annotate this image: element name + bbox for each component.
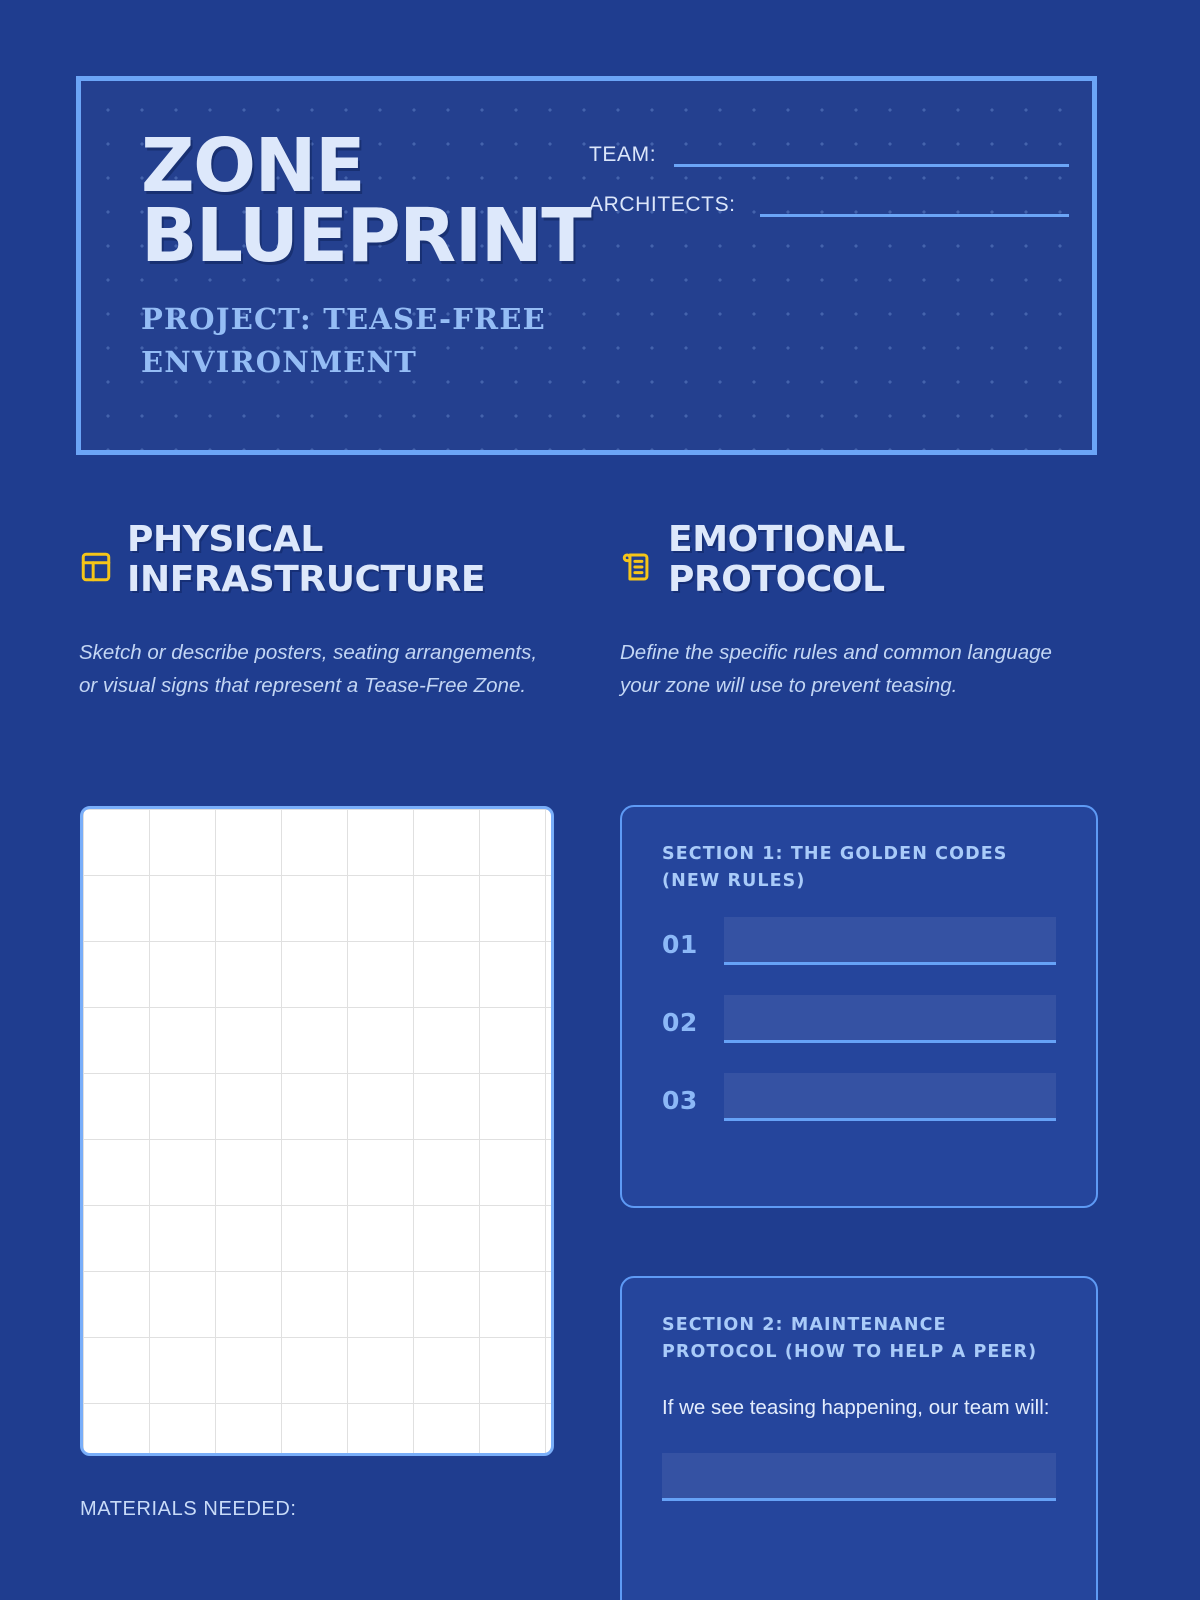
physical-title-line-2: INFRASTRUCTURE <box>127 559 485 600</box>
title-block: ZONE BLUEPRINT PROJECT: TEASE-FREE ENVIR… <box>141 131 611 385</box>
section-2-prompt: If we see teasing happening, our team wi… <box>662 1392 1056 1424</box>
golden-code-row: 02 <box>662 995 1056 1043</box>
page-title-line-2: BLUEPRINT <box>141 201 611 271</box>
section-1-golden-codes-card: SECTION 1: THE GOLDEN CODES (NEW RULES) … <box>620 805 1098 1208</box>
golden-code-input-03[interactable] <box>724 1073 1056 1121</box>
golden-code-number-02: 02 <box>662 1010 724 1043</box>
architects-field-label: ARCHITECTS: <box>589 193 736 217</box>
page-title: ZONE BLUEPRINT <box>141 131 611 272</box>
golden-code-number-03: 03 <box>662 1088 724 1121</box>
golden-code-input-02[interactable] <box>724 995 1056 1043</box>
sketch-grid-canvas[interactable] <box>80 806 554 1456</box>
team-field-label: TEAM: <box>589 143 656 167</box>
architects-input-line[interactable] <box>760 214 1069 217</box>
emotional-protocol-column: EMOTIONAL PROTOCOL Define the specific r… <box>620 520 1098 702</box>
architects-field-row: ARCHITECTS: <box>589 193 1069 217</box>
header-fields: TEAM: ARCHITECTS: <box>589 143 1069 243</box>
golden-code-row: 03 <box>662 1073 1056 1121</box>
physical-infrastructure-title: PHYSICAL INFRASTRUCTURE <box>127 520 485 599</box>
emotional-protocol-title: EMOTIONAL PROTOCOL <box>668 520 905 599</box>
section-1-title: SECTION 1: THE GOLDEN CODES (NEW RULES) <box>662 841 1056 895</box>
physical-title-line-1: PHYSICAL <box>127 519 323 560</box>
golden-code-row: 01 <box>662 917 1056 965</box>
golden-code-input-01[interactable] <box>724 917 1056 965</box>
emotional-protocol-heading: EMOTIONAL PROTOCOL <box>620 520 1098 599</box>
emotional-title-line-1: EMOTIONAL <box>668 519 905 560</box>
physical-infrastructure-column: PHYSICAL INFRASTRUCTURE Sketch or descri… <box>79 520 559 702</box>
team-input-line[interactable] <box>674 164 1069 167</box>
golden-code-rows: 01 02 03 <box>662 917 1056 1121</box>
emotional-title-line-2: PROTOCOL <box>668 559 885 600</box>
layout-panel-icon <box>79 550 113 584</box>
team-field-row: TEAM: <box>589 143 1069 167</box>
materials-needed-label: MATERIALS NEEDED: <box>80 1498 297 1521</box>
physical-infrastructure-heading: PHYSICAL INFRASTRUCTURE <box>79 520 559 599</box>
maintenance-protocol-input-1[interactable] <box>662 1453 1056 1501</box>
physical-infrastructure-description: Sketch or describe posters, seating arra… <box>79 637 551 702</box>
scroll-document-icon <box>620 550 654 584</box>
emotional-protocol-description: Define the specific rules and common lan… <box>620 637 1092 702</box>
page-title-line-1: ZONE <box>141 131 611 201</box>
section-2-maintenance-protocol-card: SECTION 2: MAINTENANCE PROTOCOL (HOW TO … <box>620 1276 1098 1600</box>
golden-code-number-01: 01 <box>662 932 724 965</box>
section-2-title: SECTION 2: MAINTENANCE PROTOCOL (HOW TO … <box>662 1312 1056 1366</box>
blueprint-header-panel: ZONE BLUEPRINT PROJECT: TEASE-FREE ENVIR… <box>76 76 1097 455</box>
project-subtitle: PROJECT: TEASE-FREE ENVIRONMENT <box>141 298 611 385</box>
